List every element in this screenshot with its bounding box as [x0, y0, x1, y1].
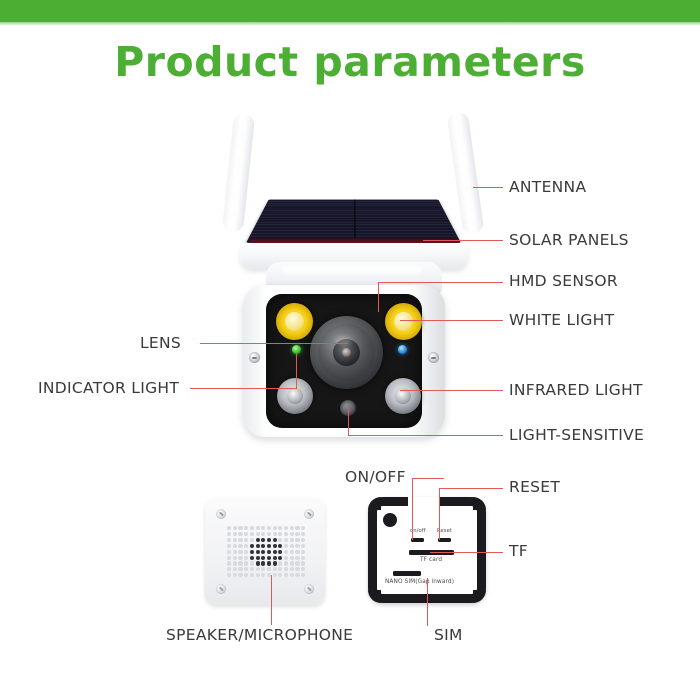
- infrared-led-right: [385, 378, 421, 414]
- speaker-hole: [256, 532, 260, 536]
- leader-lens: [200, 343, 348, 344]
- speaker-hole: [267, 532, 271, 536]
- speaker-hole: [238, 526, 242, 530]
- speaker-hole: [238, 544, 242, 548]
- speaker-hole: [238, 567, 242, 571]
- speaker-hole: [273, 526, 277, 530]
- speaker-hole: [250, 550, 254, 554]
- speaker-hole: [244, 556, 248, 560]
- label-light-sensitive: LIGHT-SENSITIVE: [509, 426, 644, 444]
- plate-screw-bottom-left: [216, 584, 226, 594]
- leader-infrared-light: [400, 390, 503, 391]
- speaker-hole: [250, 567, 254, 571]
- label-sim: SIM: [434, 626, 463, 644]
- speaker-hole: [290, 526, 294, 530]
- speaker-hole: [278, 544, 282, 548]
- speaker-hole: [267, 544, 271, 548]
- speaker-hole: [233, 561, 237, 565]
- speaker-hole: [290, 538, 294, 542]
- label-on-off: ON/OFF: [345, 468, 406, 486]
- leader-on-off: [412, 478, 444, 479]
- speaker-hole: [244, 532, 248, 536]
- speaker-hole: [301, 526, 305, 530]
- speaker-hole: [256, 526, 260, 530]
- leader-antenna: [473, 187, 503, 188]
- white-light-led-right: [385, 303, 422, 340]
- speaker-hole: [261, 556, 265, 560]
- speaker-hole: [233, 538, 237, 542]
- speaker-hole: [238, 550, 242, 554]
- speaker-hole: [238, 556, 242, 560]
- top-brand-bar: [0, 0, 700, 22]
- speaker-hole: [301, 567, 305, 571]
- speaker-hole: [290, 550, 294, 554]
- label-solar-panels: SOLAR PANELS: [509, 231, 629, 249]
- speaker-hole: [290, 561, 294, 565]
- speaker-hole: [261, 573, 265, 577]
- speaker-hole: [278, 556, 282, 560]
- speaker-hole: [250, 526, 254, 530]
- speaker-hole: [278, 561, 282, 565]
- speaker-hole: [273, 567, 277, 571]
- page-title: Product parameters: [0, 38, 700, 86]
- speaker-hole: [278, 573, 282, 577]
- speaker-hole: [295, 561, 299, 565]
- speaker-hole: [284, 532, 288, 536]
- white-light-led-left: [276, 303, 313, 340]
- speaker-hole: [233, 573, 237, 577]
- speaker-hole: [244, 567, 248, 571]
- speaker-hole: [267, 561, 271, 565]
- speaker-hole: [244, 538, 248, 542]
- speaker-hole: [290, 556, 294, 560]
- indicator-led-blue: [398, 345, 407, 354]
- io-indicator-dot: [383, 513, 397, 527]
- speaker-hole: [290, 567, 294, 571]
- speaker-hole: [256, 567, 260, 571]
- speaker-hole: [284, 526, 288, 530]
- speaker-hole: [238, 538, 242, 542]
- speaker-hole: [284, 556, 288, 560]
- speaker-hole: [295, 544, 299, 548]
- leader-white-light: [400, 320, 503, 321]
- speaker-hole: [227, 544, 231, 548]
- speaker-hole: [301, 556, 305, 560]
- speaker-hole: [284, 538, 288, 542]
- label-hmd-sensor: HMD SENSOR: [509, 272, 618, 290]
- speaker-hole: [278, 532, 282, 536]
- speaker-hole: [261, 550, 265, 554]
- speaker-hole: [227, 556, 231, 560]
- speaker-hole: [261, 532, 265, 536]
- speaker-hole: [261, 526, 265, 530]
- speaker-hole: [244, 550, 248, 554]
- lens-aperture: [342, 348, 351, 357]
- speaker-microphone-plate: [205, 498, 325, 605]
- speaker-hole: [256, 538, 260, 542]
- speaker-hole: [244, 573, 248, 577]
- speaker-hole: [233, 532, 237, 536]
- speaker-hole: [295, 538, 299, 542]
- label-reset: RESET: [509, 478, 560, 496]
- speaker-hole: [238, 573, 242, 577]
- speaker-hole: [238, 532, 242, 536]
- speaker-hole: [244, 526, 248, 530]
- speaker-hole: [295, 526, 299, 530]
- leader-reset-vertical: [439, 488, 440, 540]
- plate-screw-top-left: [216, 509, 226, 519]
- solar-panel-surface: [246, 200, 461, 243]
- camera-lens: [310, 316, 383, 389]
- leader-light-sensitive-vertical: [348, 408, 349, 435]
- plate-screw-top-right: [304, 509, 314, 519]
- speaker-hole: [233, 544, 237, 548]
- speaker-hole: [267, 538, 271, 542]
- speaker-hole: [273, 538, 277, 542]
- speaker-hole: [227, 561, 231, 565]
- leader-speaker-microphone-vertical: [271, 575, 272, 625]
- solar-panel-assembly: [246, 139, 461, 249]
- speaker-hole: [256, 550, 260, 554]
- speaker-hole: [273, 561, 277, 565]
- speaker-hole: [301, 532, 305, 536]
- speaker-hole: [295, 573, 299, 577]
- plate-screw-bottom-right: [304, 584, 314, 594]
- io-corner-bottom-left: [368, 590, 381, 603]
- speaker-hole: [267, 556, 271, 560]
- leader-hmd-sensor: [378, 282, 503, 283]
- leader-reset: [439, 488, 503, 489]
- label-lens: LENS: [140, 334, 181, 352]
- speaker-hole: [227, 532, 231, 536]
- speaker-hole: [233, 550, 237, 554]
- leader-light-sensitive: [348, 435, 503, 436]
- speaker-hole: [301, 550, 305, 554]
- body-screw-right: [428, 352, 439, 363]
- speaker-hole: [267, 550, 271, 554]
- label-infrared-light: INFRARED LIGHT: [509, 381, 643, 399]
- speaker-hole: [250, 544, 254, 548]
- speaker-hole: [233, 526, 237, 530]
- label-tf: TF: [509, 542, 528, 560]
- speaker-hole: [284, 561, 288, 565]
- product-parameters-diagram: Product parameters: [0, 0, 700, 700]
- speaker-hole: [295, 567, 299, 571]
- speaker-hole: [256, 556, 260, 560]
- speaker-hole: [273, 532, 277, 536]
- io-corner-top-right: [473, 497, 486, 510]
- speaker-hole: [278, 550, 282, 554]
- speaker-hole: [227, 567, 231, 571]
- speaker-hole: [250, 561, 254, 565]
- speaker-hole: [301, 573, 305, 577]
- io-corner-bottom-right: [473, 590, 486, 603]
- leader-sim-vertical: [427, 578, 428, 626]
- speaker-hole: [295, 532, 299, 536]
- speaker-hole: [301, 561, 305, 565]
- speaker-hole: [244, 544, 248, 548]
- speaker-perforation-grid: [227, 526, 304, 579]
- speaker-hole: [256, 561, 260, 565]
- speaker-hole: [290, 544, 294, 548]
- speaker-hole: [278, 567, 282, 571]
- speaker-hole: [284, 550, 288, 554]
- speaker-hole: [278, 538, 282, 542]
- body-screw-left: [249, 352, 260, 363]
- speaker-hole: [267, 567, 271, 571]
- leader-solar-panels: [423, 240, 503, 241]
- leader-tf: [430, 552, 503, 553]
- speaker-hole: [284, 567, 288, 571]
- speaker-hole: [244, 561, 248, 565]
- speaker-hole: [295, 550, 299, 554]
- speaker-hole: [284, 544, 288, 548]
- leader-on-off-vertical: [412, 478, 413, 540]
- lens-barrel: [318, 324, 375, 381]
- speaker-hole: [238, 561, 242, 565]
- speaker-hole: [290, 573, 294, 577]
- speaker-hole: [273, 556, 277, 560]
- speaker-hole: [261, 544, 265, 548]
- speaker-hole: [301, 544, 305, 548]
- label-speaker-microphone: SPEAKER/MICROPHONE: [166, 626, 353, 644]
- camera-mount-highlight: [282, 266, 422, 274]
- speaker-hole: [250, 532, 254, 536]
- speaker-hole: [256, 573, 260, 577]
- speaker-hole: [233, 556, 237, 560]
- io-slot-nano-sim[interactable]: [393, 571, 421, 576]
- leader-indicator-light: [190, 388, 297, 389]
- speaker-hole: [227, 538, 231, 542]
- speaker-hole: [290, 532, 294, 536]
- speaker-hole: [250, 556, 254, 560]
- leader-indicator-light-vertical: [296, 353, 297, 388]
- speaker-hole: [256, 544, 260, 548]
- speaker-hole: [267, 526, 271, 530]
- io-corner-top-left: [368, 497, 381, 510]
- speaker-hole: [261, 561, 265, 565]
- speaker-hole: [295, 556, 299, 560]
- solar-seam-horizontal: [258, 219, 449, 220]
- speaker-hole: [261, 538, 265, 542]
- speaker-hole: [284, 573, 288, 577]
- speaker-hole: [273, 573, 277, 577]
- io-label-nano-sim: NANO SIM(Gap inward): [385, 579, 454, 585]
- label-antenna: ANTENNA: [509, 178, 586, 196]
- speaker-hole: [227, 550, 231, 554]
- speaker-hole: [273, 550, 277, 554]
- speaker-hole: [278, 526, 282, 530]
- label-indicator-light: INDICATOR LIGHT: [38, 379, 179, 397]
- speaker-hole: [250, 573, 254, 577]
- io-label-tf-card: TF card: [420, 557, 442, 563]
- speaker-hole: [233, 567, 237, 571]
- speaker-hole: [227, 573, 231, 577]
- infrared-led-left: [277, 378, 313, 414]
- label-white-light: WHITE LIGHT: [509, 311, 614, 329]
- speaker-hole: [301, 538, 305, 542]
- top-brand-bar-fade: [0, 22, 700, 26]
- leader-hmd-sensor-vertical: [378, 282, 379, 312]
- speaker-hole: [273, 544, 277, 548]
- speaker-hole: [250, 538, 254, 542]
- speaker-hole: [261, 567, 265, 571]
- speaker-hole: [227, 526, 231, 530]
